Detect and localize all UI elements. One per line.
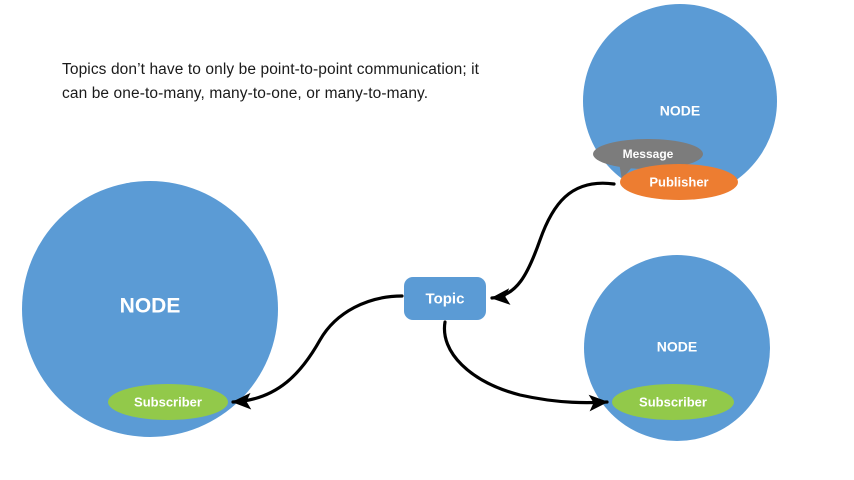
subscriber-left[interactable]: Subscriber (108, 384, 228, 420)
node-top-right-label: NODE (660, 103, 700, 119)
message-callout-label: Message (623, 147, 674, 161)
node-left-label: NODE (120, 295, 181, 318)
diagram-canvas: Topics don’t have to only be point-to-po… (0, 0, 854, 480)
subscriber-bottom-right[interactable]: Subscriber (612, 384, 734, 420)
arrow-publisher-to-topic (492, 183, 614, 298)
publisher-label: Publisher (649, 174, 708, 189)
publisher-top-right[interactable]: Publisher (620, 164, 738, 200)
node-bottom-right-label: NODE (657, 339, 697, 355)
subscriber-left-label: Subscriber (134, 394, 202, 409)
arrow-topic-to-subscriber-bottom-right (444, 322, 607, 403)
diagram-graphics: NODE NODE NODE Message Publisher (0, 0, 854, 480)
topic-box[interactable]: Topic (404, 277, 486, 320)
node-circles-group: NODE NODE NODE (22, 4, 777, 441)
topic-box-label: Topic (426, 290, 465, 307)
subscriber-bottom-right-label: Subscriber (639, 394, 707, 409)
